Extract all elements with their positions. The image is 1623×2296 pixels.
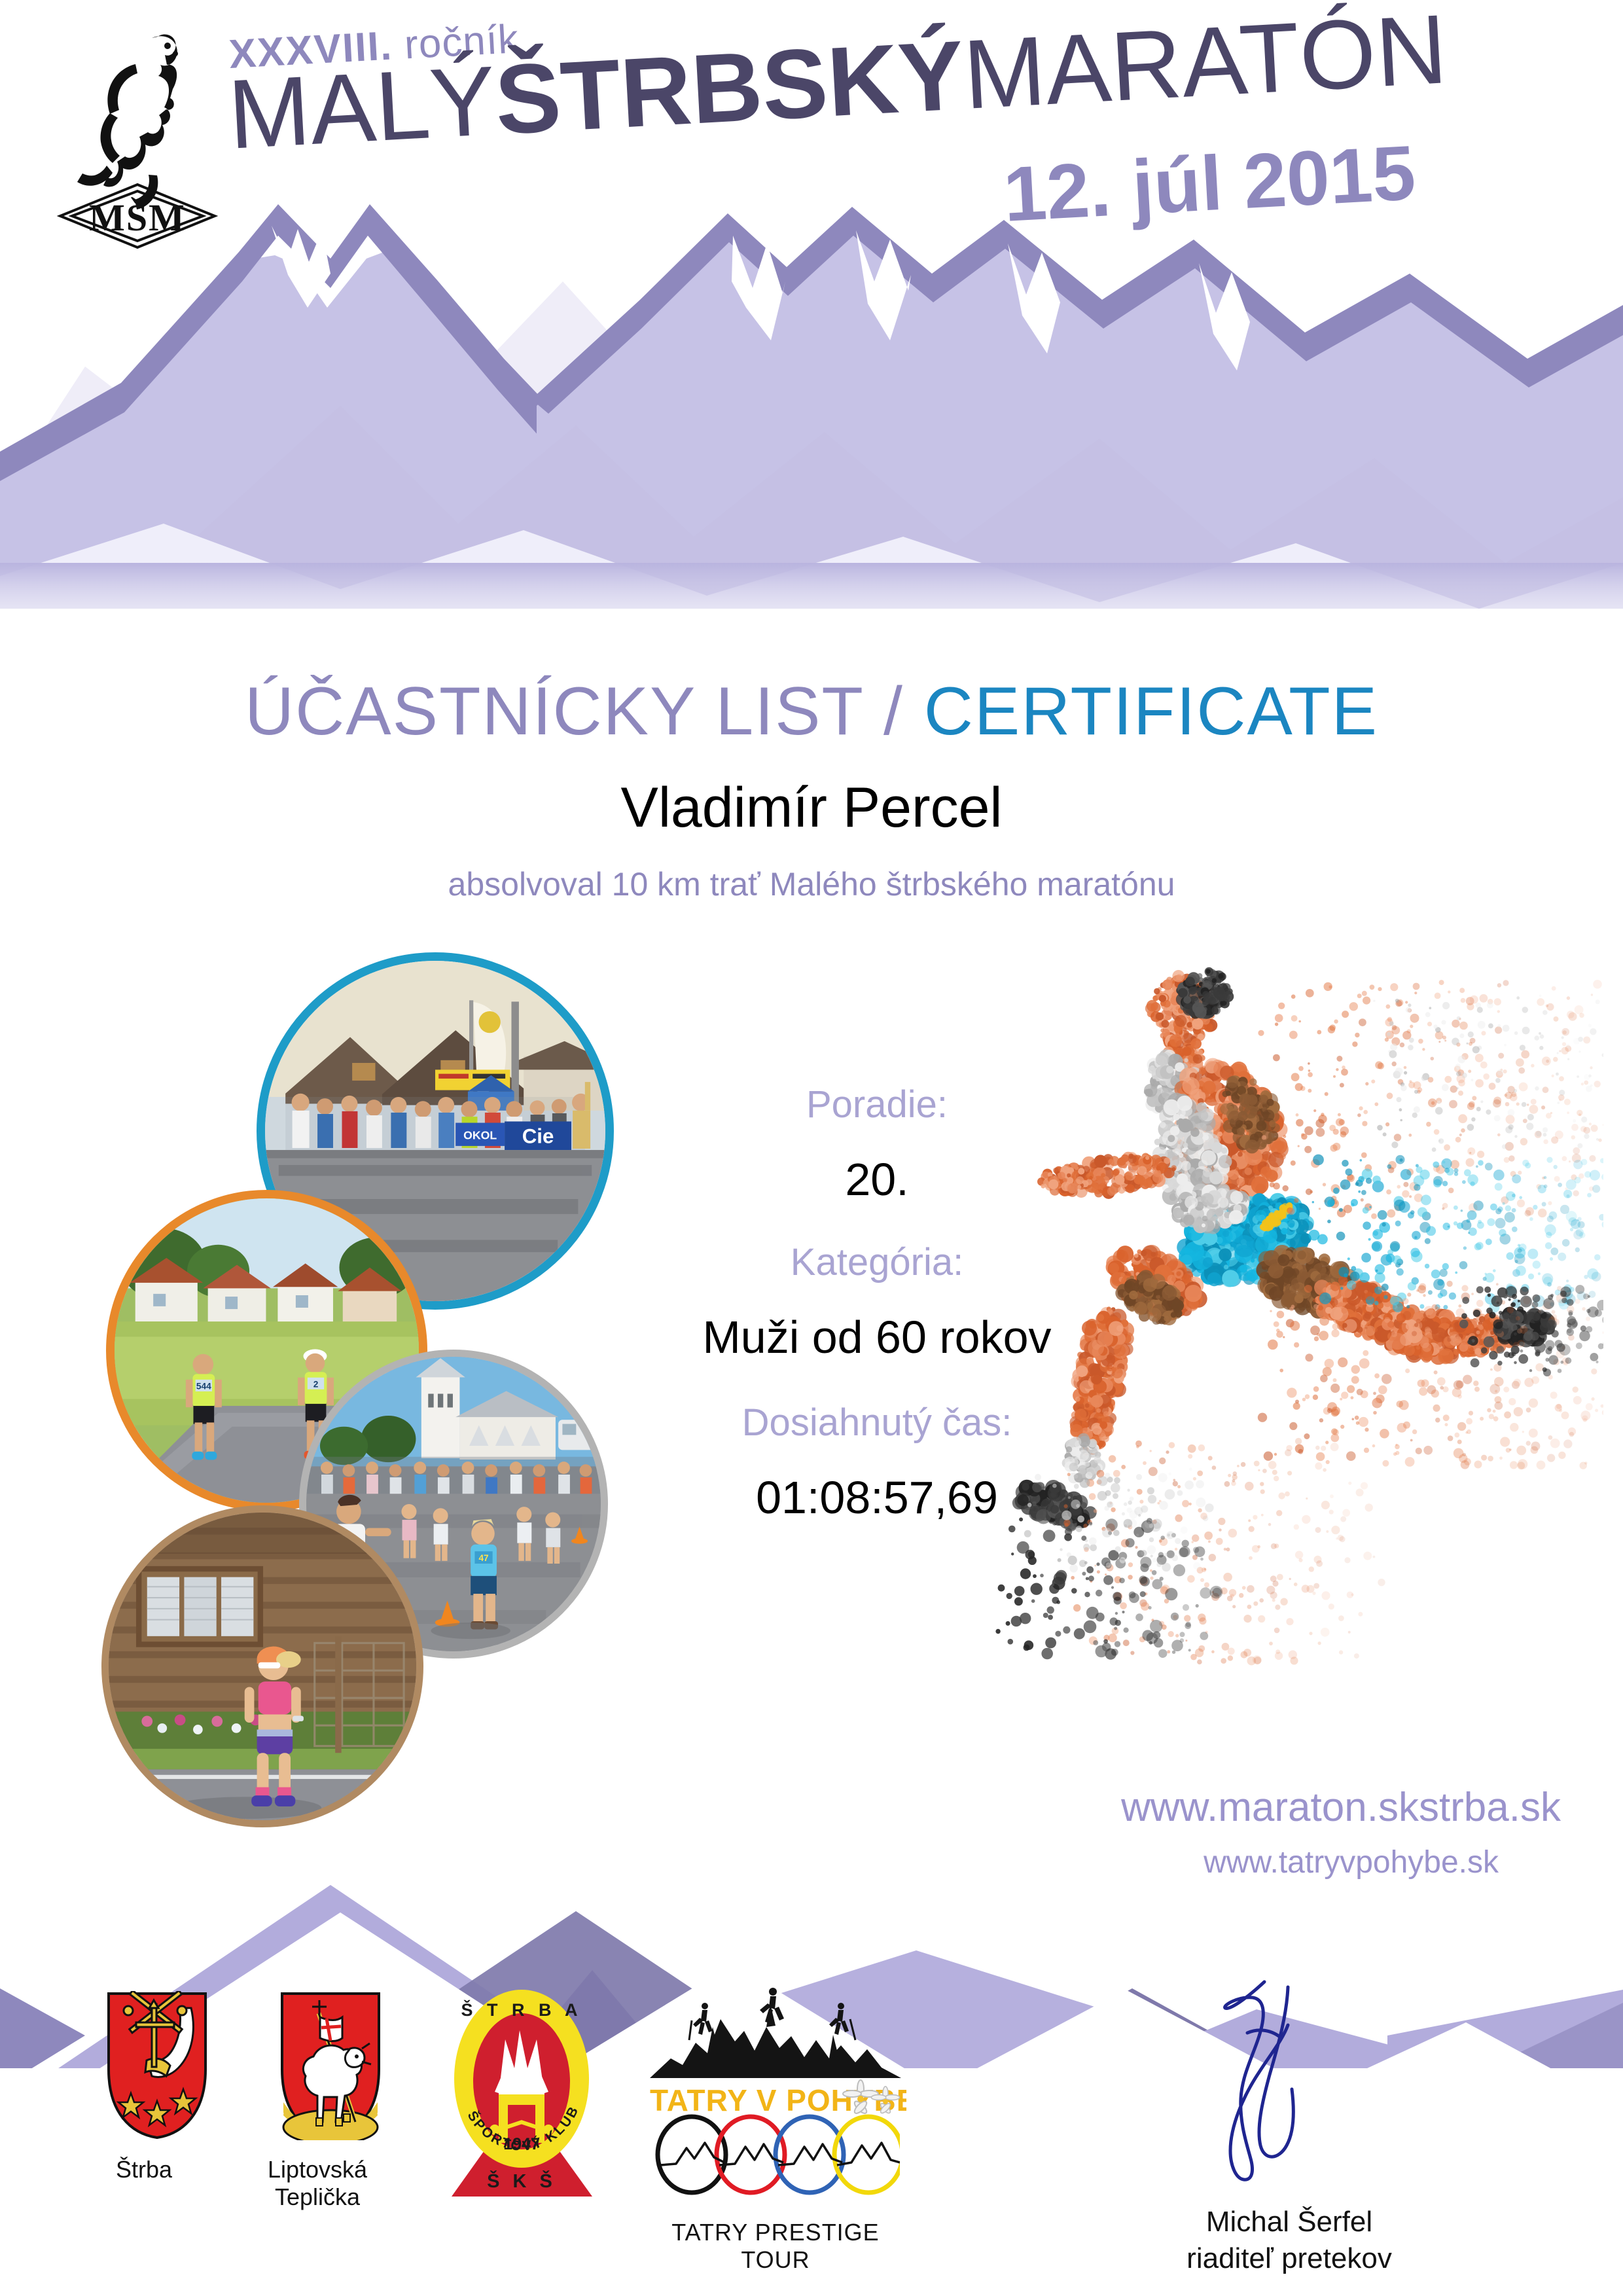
crest-strba-caption: Štrba [59,2156,229,2183]
certificate-heading: ÚČASTNÍCKY LIST / CERTIFICATE [0,673,1623,751]
sks-top-text: Š T R B A [461,2000,582,2020]
photo-woman-runner-cabin [101,1505,423,1827]
crest-strba [105,1991,209,2140]
svg-text:Cie: Cie [522,1125,554,1148]
director-role: riaditeľ pretekov [1073,2242,1505,2275]
sks-club-emblem-icon: Š T R B A 1947 Š K Š ŠPORTOVÝ KLUB [452,1983,592,2199]
certificate-page: MŠM XXXVIII. ročník MALÝŠTRBSKÝMARATÓN 1… [0,0,1623,2296]
crest-strba-caption-line1: Štrba [59,2156,229,2183]
certificate-heading-separator: / [883,673,904,749]
event-title-part1: MALÝ [226,45,499,170]
tatry-v-pohybe-label: TATRY V POHYBE [650,2083,906,2117]
director-name: Michal Šerfel [1073,2206,1505,2238]
tatry-v-pohybe-logo: TATRY V POHYBE [645,1980,906,2124]
particle-runner-graphic [995,942,1603,1695]
header-banner: MŠM XXXVIII. ročník MALÝŠTRBSKÝMARATÓN 1… [0,0,1623,655]
svg-text:OKOL: OKOL [463,1128,497,1141]
certificate-heading-en: CERTIFICATE [924,673,1378,749]
svg-text:2: 2 [313,1380,319,1390]
msm-club-logo: MŠM [39,13,236,262]
certificate-heading-sk: ÚČASTNÍCKY LIST [245,673,863,749]
tatry-prestige-tour-label: TATRY PRESTIGE TOUR [651,2219,900,2274]
crest-liptovska-teplicka-caption: Liptovská Teplička [232,2156,402,2211]
participant-description: absolvoval 10 km trať Malého štrbského m… [0,865,1623,903]
msm-runner-emblem-icon: MŠM [39,13,236,262]
tatry-v-pohybe-icon: TATRY V POHYBE [645,1980,906,2124]
svg-text:MŠM: MŠM [89,196,186,239]
svg-text:47: 47 [478,1553,488,1563]
participant-name: Vladimír Percel [0,776,1623,840]
strba-coat-of-arms-icon [105,1991,209,2140]
director-signature [1178,1970,1400,2186]
website-primary[interactable]: www.maraton.skstrba.sk [0,1784,1561,1831]
signature-icon [1178,1970,1400,2186]
svg-text:544: 544 [196,1382,211,1391]
particle-runner-icon [995,942,1603,1695]
tatry-prestige-tour-rings-icon [651,2114,900,2212]
liptovska-teplicka-coat-of-arms-icon [278,1991,383,2140]
photo-woman-runner-cabin-image [109,1513,416,1820]
crest-lt-caption-line1: Liptovská [232,2156,402,2183]
crest-lt-caption-line2: Teplička [232,2183,402,2211]
sks-club-logo: Š T R B A 1947 Š K Š ŠPORTOVÝ KLUB [452,1983,592,2199]
crest-liptovska-teplicka [278,1991,383,2140]
